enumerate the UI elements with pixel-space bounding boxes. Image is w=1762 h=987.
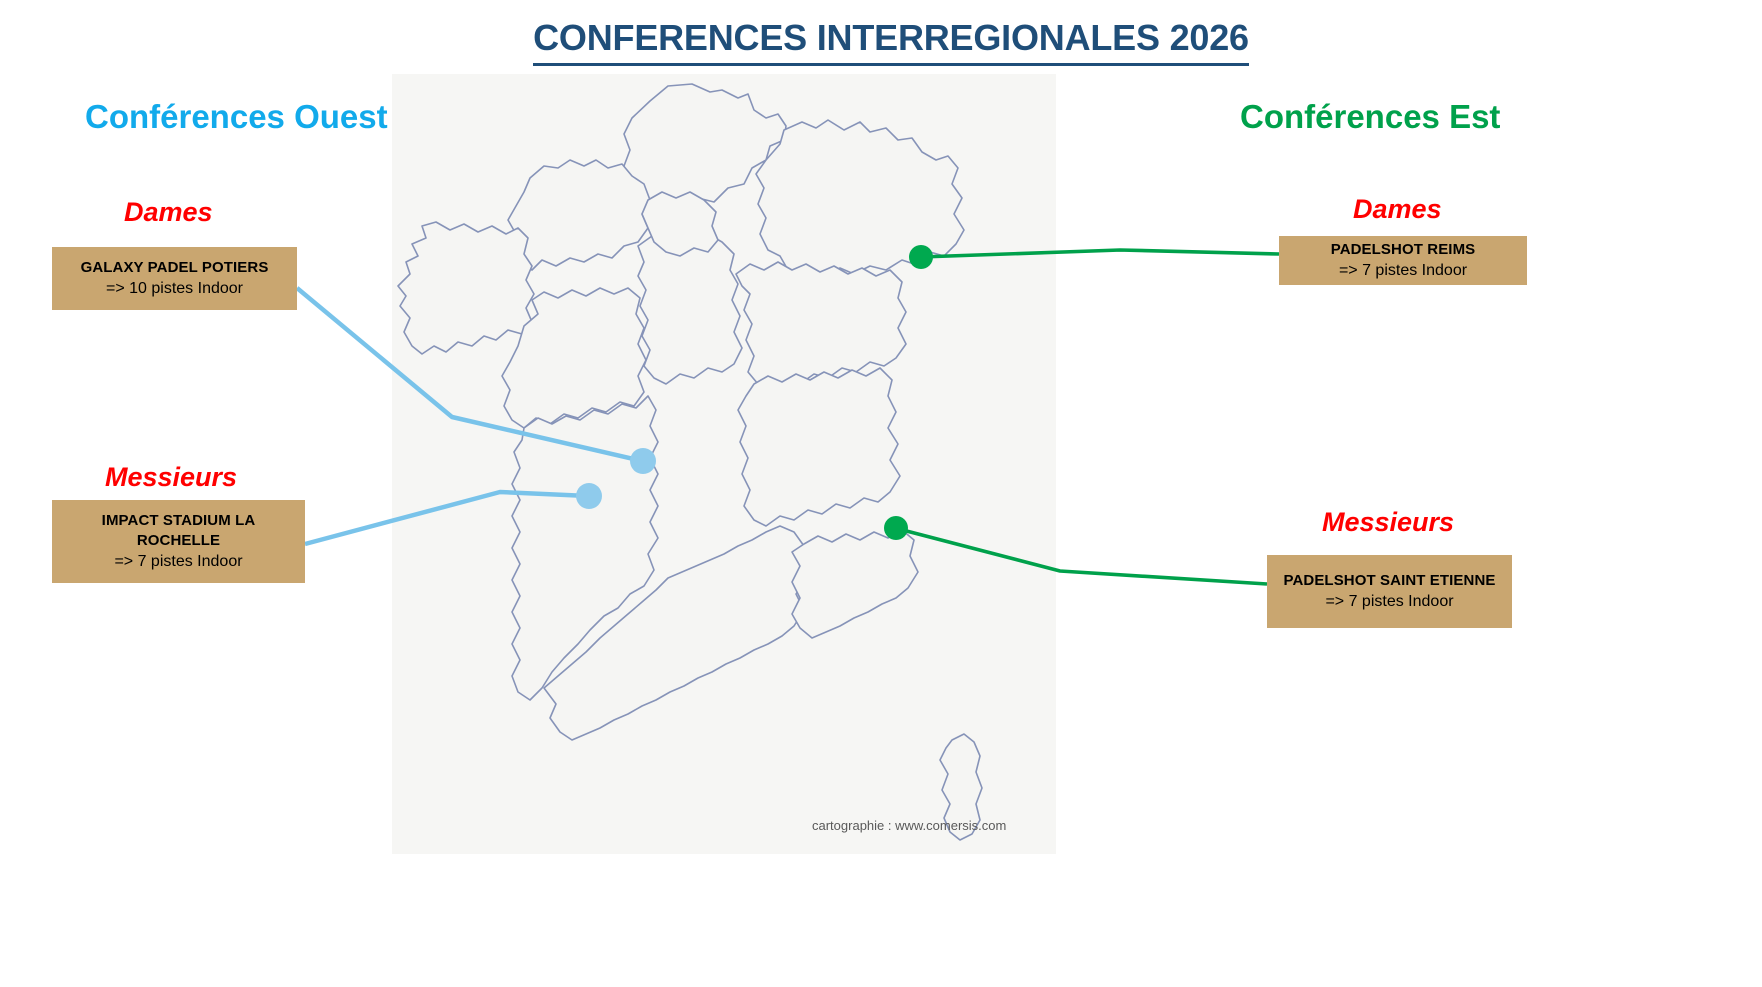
venue-name: PADELSHOT REIMS bbox=[1331, 240, 1476, 260]
heading-conferences-ouest: Conférences Ouest bbox=[85, 98, 388, 136]
venue-name: PADELSHOT SAINT ETIENNE bbox=[1283, 571, 1495, 591]
venue-courts: => 7 pistes Indoor bbox=[1339, 260, 1467, 281]
france-map bbox=[392, 74, 1056, 854]
category-label-est-messieurs: Messieurs bbox=[1322, 506, 1454, 538]
conference-map-slide: CONFERENCES INTERREGIONALES 2026 (2 & 3 … bbox=[0, 0, 1762, 987]
category-label-ouest-messieurs: Messieurs bbox=[105, 461, 237, 493]
region-centre-val-de-loire bbox=[638, 234, 742, 384]
map-credit: cartographie : www.comersis.com bbox=[812, 818, 1006, 833]
category-label-est-dames: Dames bbox=[1353, 193, 1442, 225]
france-map-svg bbox=[392, 74, 1056, 854]
venue-box-impact-stadium-la-rochelle[interactable]: IMPACT STADIUM LA ROCHELLE => 7 pistes I… bbox=[52, 500, 305, 583]
venue-courts: => 10 pistes Indoor bbox=[106, 278, 243, 299]
venue-name: IMPACT STADIUM LA ROCHELLE bbox=[60, 511, 297, 551]
venue-name: GALAXY PADEL POTIERS bbox=[81, 258, 269, 278]
venue-box-padelshot-reims[interactable]: PADELSHOT REIMS => 7 pistes Indoor bbox=[1279, 236, 1527, 285]
venue-box-padelshot-saint-etienne[interactable]: PADELSHOT SAINT ETIENNE => 7 pistes Indo… bbox=[1267, 555, 1512, 628]
venue-box-galaxy-padel-potiers[interactable]: GALAXY PADEL POTIERS => 10 pistes Indoor bbox=[52, 247, 297, 310]
venue-courts: => 7 pistes Indoor bbox=[114, 551, 242, 572]
venue-courts: => 7 pistes Indoor bbox=[1325, 591, 1453, 612]
category-label-ouest-dames: Dames bbox=[124, 196, 213, 228]
heading-conferences-est: Conférences Est bbox=[1240, 98, 1500, 136]
title-line-1: CONFERENCES INTERREGIONALES 2026 bbox=[533, 14, 1249, 66]
